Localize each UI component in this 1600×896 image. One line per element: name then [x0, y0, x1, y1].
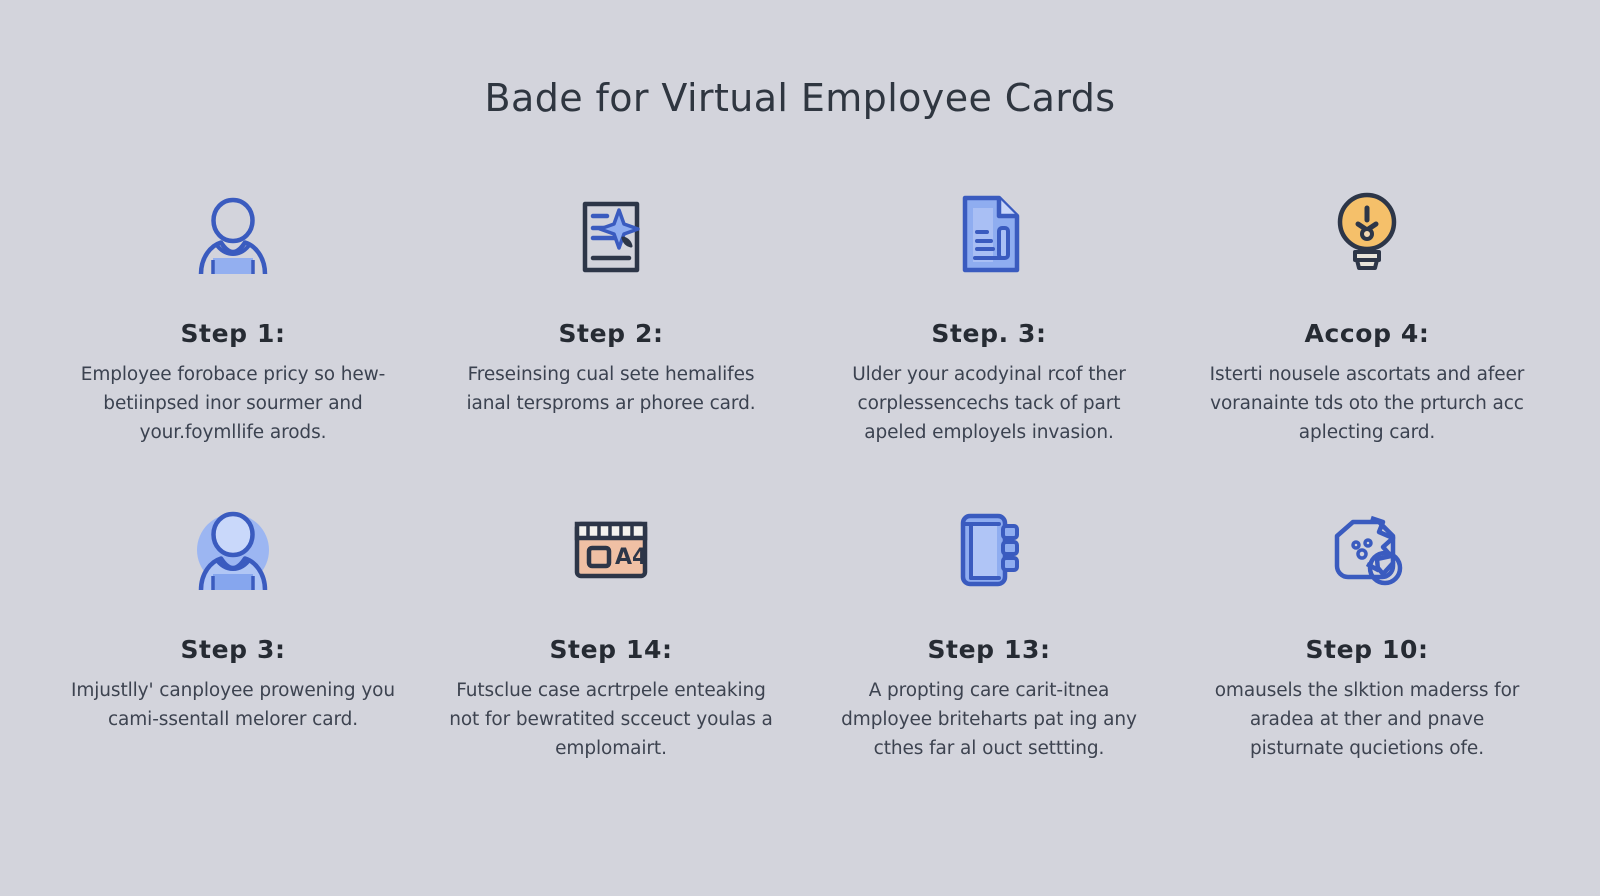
step-card-7[interactable]: Step 13: A propting care carit-itnea dmp… [800, 498, 1178, 814]
step-card-5[interactable]: Step 3: Imjustlly' canployee prowening y… [44, 498, 422, 814]
step-title: Step. 3: [931, 320, 1046, 348]
step-card-1[interactable]: Step 1: Employee forobace pricy so hew-b… [44, 182, 422, 498]
step-description: Isterti nousele ascortats and afeer vora… [1204, 361, 1530, 448]
step-description: Imjustlly' canployee prowening you cami-… [70, 677, 396, 735]
step-title: Accop 4: [1305, 320, 1430, 348]
step-description: Employee forobace pricy so hew-betiinpse… [70, 361, 396, 448]
person-avatar-filled-icon [185, 498, 281, 602]
step-description: omausels the slktion maderss for aradea … [1204, 677, 1530, 764]
step-card-2[interactable]: Step 2: Freseinsing cual sete hemalifes … [422, 182, 800, 498]
step-description: A propting care carit-itnea dmployee bri… [826, 677, 1152, 764]
person-avatar-icon [185, 182, 281, 286]
infographic-canvas: Bade for Virtual Employee Cards Step 1: … [0, 0, 1600, 896]
steps-grid: Step 1: Employee forobace pricy so hew-b… [0, 120, 1600, 814]
badge-check-icon [1319, 498, 1415, 602]
a4-paper-icon: A4 [563, 498, 659, 602]
step-card-6[interactable]: A4 Step 14: Futsclue case acrtrpele ente… [422, 498, 800, 814]
step-title: Step 13: [927, 636, 1050, 664]
document-lines-chart-icon [941, 182, 1037, 286]
step-description: Futsclue case acrtrpele enteaking not fo… [448, 677, 774, 764]
page-title: Bade for Virtual Employee Cards [0, 0, 1600, 120]
step-card-3[interactable]: Step. 3: Ulder your acodyinal rcof ther … [800, 182, 1178, 498]
step-card-8[interactable]: Step 10: omausels the slktion maderss fo… [1178, 498, 1556, 814]
card-badge-clip-icon [941, 498, 1037, 602]
step-title: Step 3: [180, 636, 285, 664]
step-title: Step 10: [1305, 636, 1428, 664]
document-star-icon [563, 182, 659, 286]
step-description: Freseinsing cual sete hemalifes ianal te… [448, 361, 774, 419]
step-card-4[interactable]: Accop 4: Isterti nousele ascortats and a… [1178, 182, 1556, 498]
svg-text:A4: A4 [615, 545, 647, 570]
step-title: Step 2: [558, 320, 663, 348]
step-title: Step 1: [180, 320, 285, 348]
lightbulb-icon [1319, 182, 1415, 286]
step-description: Ulder your acodyinal rcof ther corplesse… [826, 361, 1152, 448]
step-title: Step 14: [549, 636, 672, 664]
